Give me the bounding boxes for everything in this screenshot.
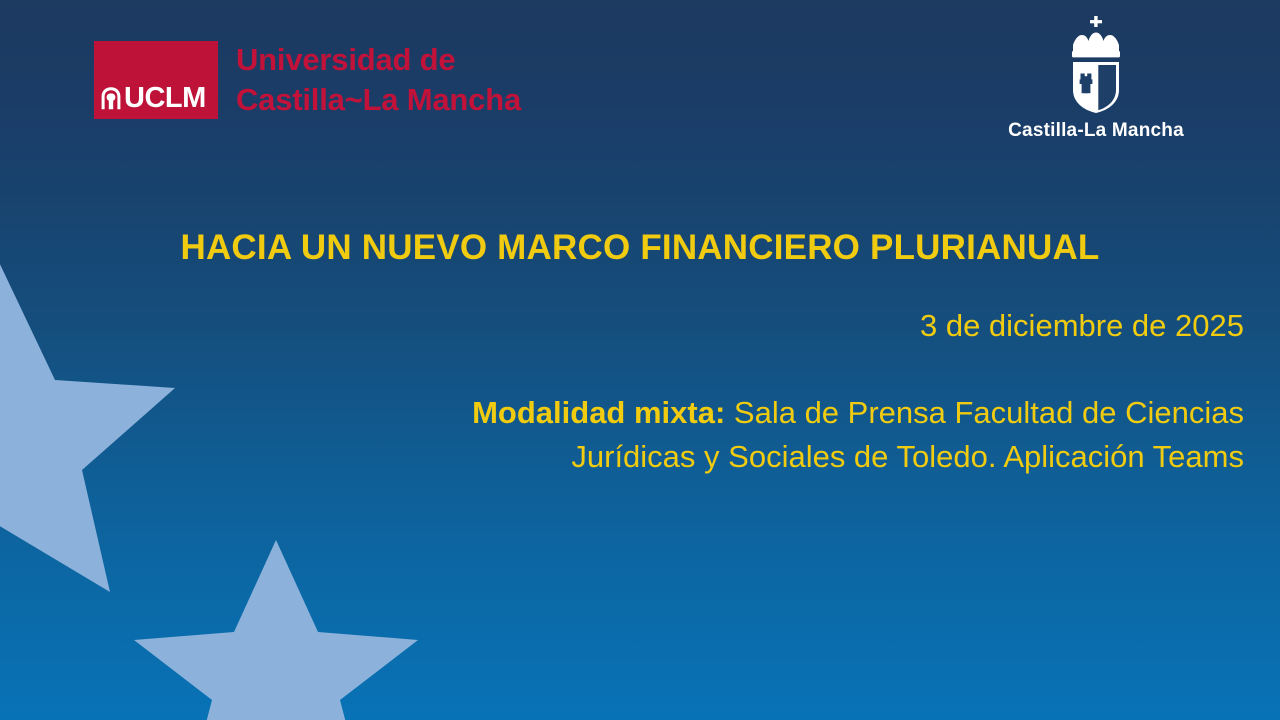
uclm-arch-antenna-icon [100,85,122,111]
jccm-logo: Castilla-La Mancha [996,14,1196,142]
uclm-logo-mark: UCLM [94,41,218,119]
uclm-wordmark: UCLM [124,84,206,113]
uclm-full-name: Universidad de Castilla~La Mancha [236,40,521,119]
castilla-la-mancha-coat-of-arms-icon [1049,14,1143,116]
event-date: 3 de diciembre de 2025 [920,308,1244,344]
uclm-logo: UCLM Universidad de Castilla~La Mancha [94,40,521,119]
event-venue: Modalidad mixta: Sala de Prensa Facultad… [424,391,1244,479]
event-modality-label: Modalidad mixta: [472,395,725,430]
background-star-large [0,260,175,592]
slide-title: HACIA UN NUEVO MARCO FINANCIERO PLURIANU… [0,228,1280,268]
background-star-small [134,540,418,720]
uclm-mark-inner: UCLM [100,84,206,113]
presentation-slide: UCLM Universidad de Castilla~La Mancha [0,0,1280,720]
jccm-logo-label: Castilla-La Mancha [1008,120,1184,142]
